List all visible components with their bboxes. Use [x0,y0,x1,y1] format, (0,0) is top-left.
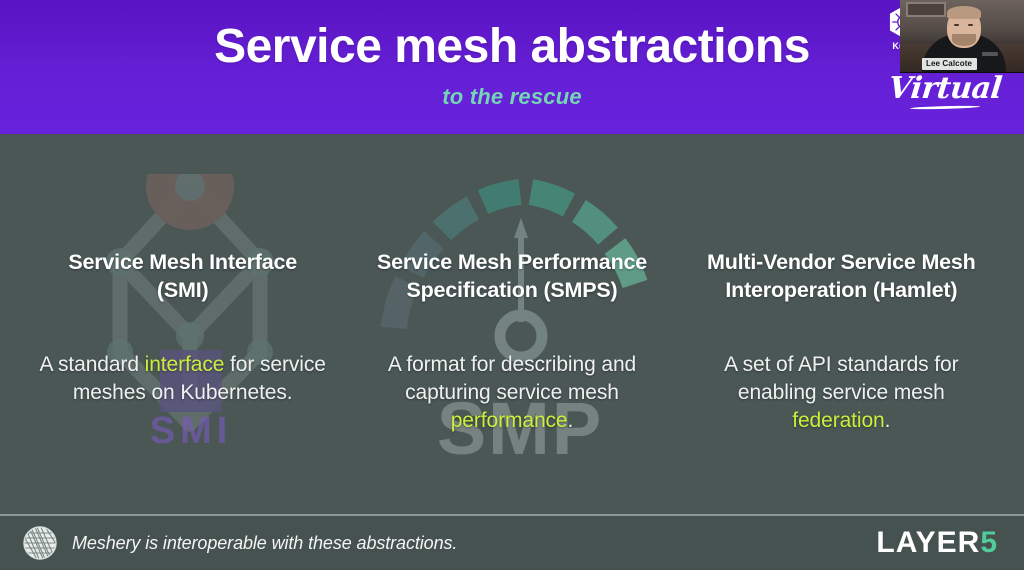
speaker-webcam-thumbnail[interactable]: Lee Calcote [900,0,1024,73]
webcam-speaker-eye-left [954,24,959,26]
abstraction-column-hamlet: Multi-Vendor Service Mesh Interoperation… [677,248,1006,435]
description-text-before: A set of API standards for enabling serv… [724,353,958,404]
virtual-logo: Virtual [884,74,1006,126]
abstraction-column-smi: Service Mesh Interface (SMI) A standard … [18,248,347,407]
column-heading-hamlet: Multi-Vendor Service Mesh Interoperation… [691,248,992,305]
column-description-smps: A format for describing and capturing se… [361,351,662,435]
footer-caption: Meshery is interoperable with these abst… [72,533,457,554]
abstractions-columns: Service Mesh Interface (SMI) A standard … [0,134,1024,515]
layer5-logo-five: 5 [980,528,998,558]
webcam-speaker-eye-right [968,24,973,26]
column-heading-line-2: Specification (SMPS) [361,276,662,304]
column-heading-line-1: Service Mesh Performance [361,248,662,276]
description-text-before: A standard [40,353,145,376]
column-heading-line-1: Multi-Vendor Service Mesh [691,248,992,276]
slide-subtitle: to the rescue [0,84,1024,110]
column-heading-line-2: Interoperation (Hamlet) [691,276,992,304]
column-heading-line-2: (SMI) [32,276,333,304]
slide-body: SMI SMP [0,134,1024,515]
virtual-logo-text: Virtual [882,74,1007,104]
webcam-speaker-beard [952,34,976,46]
layer5-logo: LAYER5 [876,528,998,558]
layer5-logo-word: LAYER [876,528,980,558]
description-highlight: federation [792,409,884,432]
abstraction-column-smps: Service Mesh Performance Specification (… [347,248,676,435]
speaker-name-label: Lee Calcote [922,58,977,70]
webcam-background-picture-frame [906,2,946,17]
slide-header: Service mesh abstractions to the rescue [0,0,1024,134]
column-heading-smps: Service Mesh Performance Specification (… [361,248,662,305]
meshery-icon [22,525,58,561]
webcam-speaker-shirt-logo [982,52,998,56]
description-text-after: . [568,409,574,432]
column-heading-line-1: Service Mesh Interface [32,248,333,276]
slide-footer: Meshery is interoperable with these abst… [0,516,1024,570]
column-heading-smi: Service Mesh Interface (SMI) [32,248,333,305]
webcam-speaker-hair [947,6,981,19]
description-highlight: performance [451,409,568,432]
description-highlight: interface [145,353,225,376]
description-text-after: . [885,409,891,432]
column-description-smi: A standard interface for service meshes … [32,351,333,407]
description-text-before: A format for describing and capturing se… [388,353,636,404]
presentation-slide: Service mesh abstractions to the rescue [0,0,1024,570]
column-description-hamlet: A set of API standards for enabling serv… [691,351,992,435]
